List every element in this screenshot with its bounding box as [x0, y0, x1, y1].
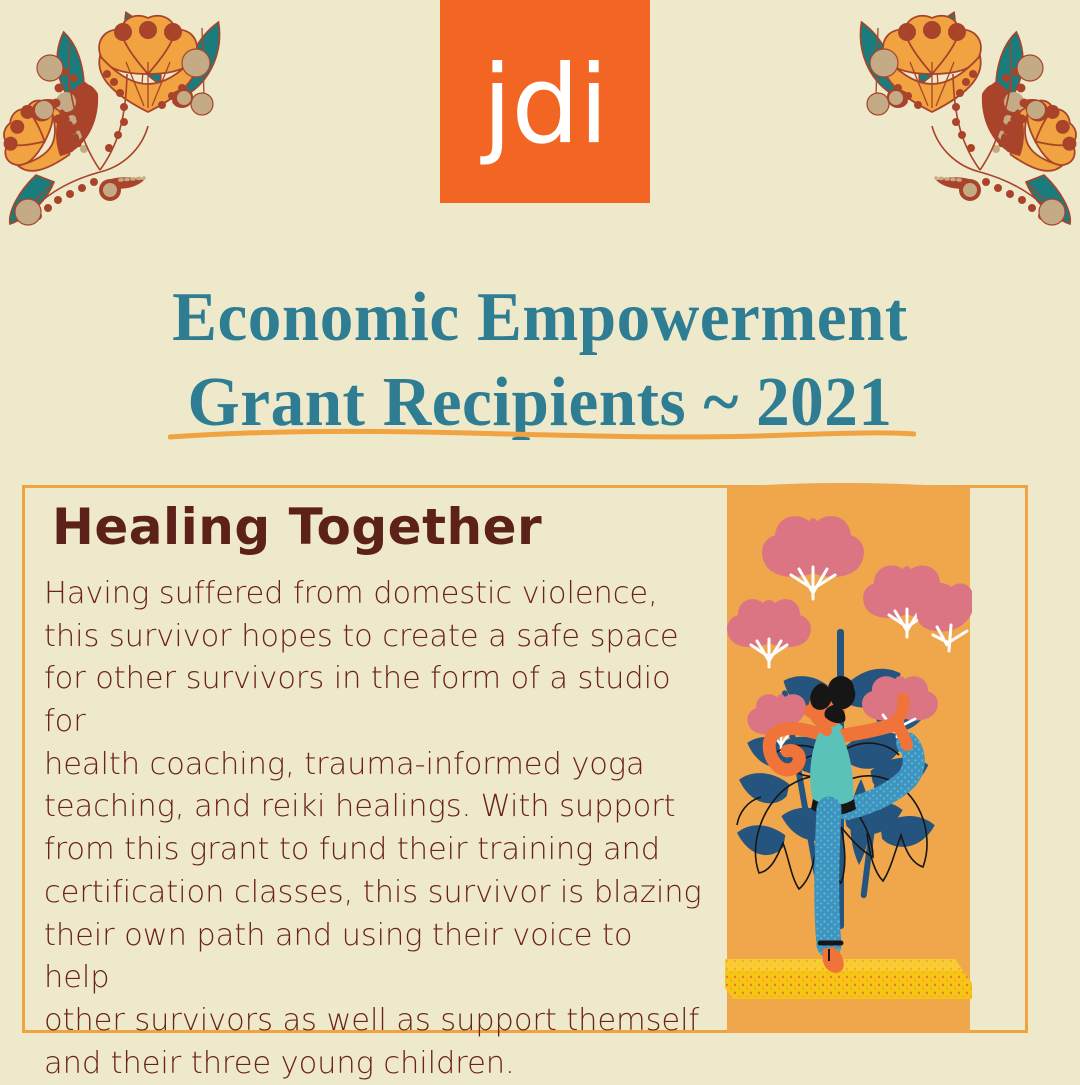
folk-floral-ornament-left	[0, 0, 296, 230]
poster-canvas: jdi Economic Empowerment Grant Recipient…	[0, 0, 1080, 1080]
card-description: Having suffered from domestic violence, …	[44, 573, 704, 1085]
page-title-line-1: Economic Empowerment	[22, 275, 1059, 360]
jdi-logo-text: jdi	[482, 52, 608, 160]
page-title: Economic Empowerment Grant Recipients ~ …	[22, 275, 1059, 446]
card-heading: Healing Together	[52, 500, 704, 555]
section-divider	[168, 424, 916, 446]
yoga-illustration	[725, 479, 972, 1038]
card-text-block: Healing Together Having suffered from do…	[44, 500, 704, 1085]
folk-floral-ornament-right	[784, 0, 1080, 230]
jdi-logo: jdi	[440, 0, 650, 203]
